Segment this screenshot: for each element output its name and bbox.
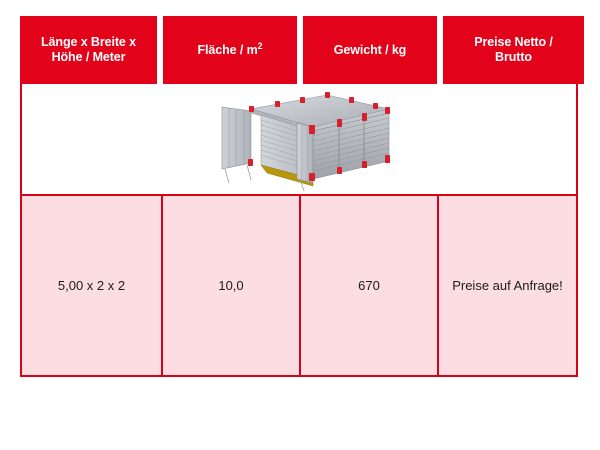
cell-price: Preise auf Anfrage! — [439, 196, 576, 375]
column-header-price-text: Preise Netto / Brutto — [474, 35, 553, 65]
table-row: 5,00 x 2 x 2 10,0 670 Preise auf Anfrage… — [20, 196, 578, 377]
column-header-area: Fläche / m2 — [163, 16, 297, 84]
column-header-dimensions-line2: Höhe / Meter — [52, 50, 126, 64]
cell-dimensions: 5,00 x 2 x 2 — [22, 196, 161, 375]
column-header-dimensions: Länge x Breite x Höhe / Meter — [20, 16, 157, 84]
column-header-weight: Gewicht / kg — [303, 16, 437, 84]
column-header-price-line2: Brutto — [495, 50, 532, 64]
cell-weight: 670 — [301, 196, 437, 375]
column-header-dimensions-line1: Länge x Breite x — [41, 35, 136, 49]
column-header-area-text: Fläche / m2 — [197, 43, 262, 58]
column-header-area-label: Fläche / m — [197, 43, 257, 57]
storage-container-illustration — [201, 87, 397, 191]
column-header-weight-text: Gewicht / kg — [334, 43, 406, 58]
column-header-area-superscript: 2 — [258, 40, 263, 50]
specification-table: Länge x Breite x Höhe / Meter Fläche / m… — [20, 16, 578, 377]
cell-area: 10,0 — [163, 196, 299, 375]
column-header-price: Preise Netto / Brutto — [443, 16, 584, 84]
column-header-dimensions-text: Länge x Breite x Höhe / Meter — [41, 35, 136, 65]
product-image-row — [20, 84, 578, 196]
table-header-row: Länge x Breite x Höhe / Meter Fläche / m… — [20, 16, 578, 84]
column-header-price-line1: Preise Netto / — [474, 35, 553, 49]
